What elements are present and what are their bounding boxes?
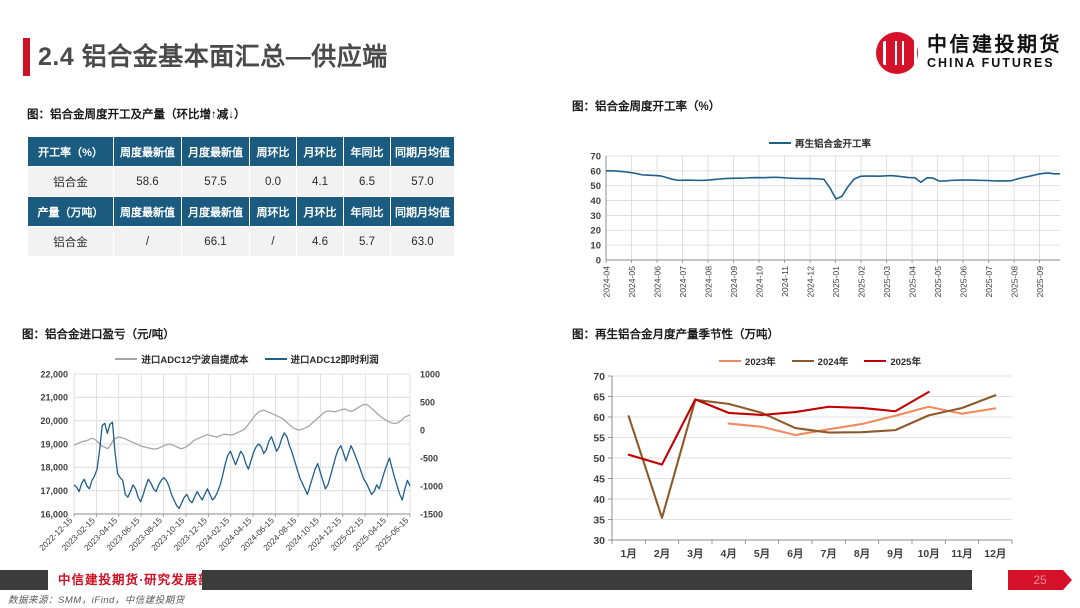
- svg-text:2月: 2月: [654, 548, 670, 560]
- table-header-cell: 周度最新值: [114, 197, 182, 227]
- supply-summary-table: 开工率（%）周度最新值月度最新值周环比月环比年同比同期月均值铝合金58.657.…: [27, 136, 455, 257]
- svg-text:1月: 1月: [620, 548, 636, 560]
- table-cell: 4.6: [297, 227, 344, 257]
- svg-text:30: 30: [593, 535, 605, 547]
- table-cell: 0.0: [250, 167, 297, 197]
- svg-text:2025-09: 2025-09: [1035, 266, 1045, 298]
- table-header-cell: 月环比: [297, 137, 344, 167]
- svg-text:2025-05: 2025-05: [933, 266, 943, 298]
- legend-item: 2025年: [864, 354, 921, 368]
- svg-text:55: 55: [593, 433, 605, 445]
- legend-item: 2024年: [792, 354, 849, 368]
- import-profit-legend: 进口ADC12宁波自提成本进口ADC12即时利润: [22, 352, 472, 366]
- operating-rate-panel: 图：铝合金周度开工率（%） 再生铝合金开工率 01020304050607020…: [572, 98, 1068, 338]
- svg-text:19,000: 19,000: [40, 439, 68, 449]
- svg-text:22,000: 22,000: [40, 369, 68, 379]
- table-header-cell: 月度最新值: [182, 137, 250, 167]
- table-cell: 5.7: [344, 227, 391, 257]
- svg-text:2024-11: 2024-11: [780, 266, 790, 297]
- svg-text:5月: 5月: [754, 548, 770, 560]
- legend-swatch-icon: [864, 360, 886, 362]
- svg-text:-1500: -1500: [420, 509, 443, 519]
- svg-text:2025-06: 2025-06: [958, 266, 968, 298]
- svg-text:1000: 1000: [420, 369, 440, 379]
- footer-bar-left: [0, 570, 48, 590]
- table-row: 铝合金58.657.50.04.16.557.0: [28, 167, 455, 197]
- table-cell: 4.1: [297, 167, 344, 197]
- legend-swatch-icon: [115, 358, 137, 360]
- seasonality-chart: 3035404550556065701月2月3月4月5月6月7月8月9月10月1…: [572, 368, 1068, 573]
- brand-name-cn: 中信建投期货: [927, 35, 1062, 56]
- svg-text:6月: 6月: [787, 548, 803, 560]
- legend-item: 进口ADC12即时利润: [265, 352, 379, 366]
- svg-text:60: 60: [590, 166, 601, 177]
- legend-label: 2025年: [890, 354, 921, 368]
- brand-logo-text: 中信建投期货 CHINA FUTURES: [927, 35, 1062, 70]
- svg-text:17,000: 17,000: [40, 486, 68, 496]
- svg-text:18,000: 18,000: [40, 463, 68, 473]
- svg-text:65: 65: [593, 392, 605, 404]
- supply-table-panel: 图：铝合金周度开工及产量（环比增↑减↓）: [27, 106, 246, 122]
- svg-text:2024-09: 2024-09: [729, 266, 739, 298]
- import-profit-chart: 16,00017,00018,00019,00020,00021,00022,0…: [22, 366, 472, 586]
- svg-text:4月: 4月: [720, 548, 736, 560]
- svg-text:35: 35: [593, 515, 605, 527]
- svg-text:3月: 3月: [687, 548, 703, 560]
- legend-label: 进口ADC12即时利润: [291, 352, 379, 366]
- svg-text:2024-05: 2024-05: [627, 266, 637, 298]
- legend-swatch-icon: [792, 360, 814, 362]
- svg-text:2024-04: 2024-04: [601, 266, 611, 298]
- footer-department: 中信建投期货·研究发展部: [58, 570, 212, 590]
- table-header-cell: 月度最新值: [182, 197, 250, 227]
- svg-text:40: 40: [590, 196, 601, 207]
- seasonality-legend: 2023年2024年2025年: [572, 354, 1068, 368]
- table-cell: 63.0: [391, 227, 455, 257]
- table-header-cell: 同期月均值: [391, 197, 455, 227]
- svg-text:9月: 9月: [887, 548, 903, 560]
- supply-table-caption: 图：铝合金周度开工及产量（环比增↑减↓）: [27, 106, 246, 122]
- table-cell: 57.5: [182, 167, 250, 197]
- legend-label: 进口ADC12宁波自提成本: [141, 352, 248, 366]
- svg-text:2025-03: 2025-03: [882, 266, 892, 298]
- svg-text:2024-08: 2024-08: [703, 266, 713, 298]
- table-cell: 66.1: [182, 227, 250, 257]
- svg-text:12月: 12月: [984, 548, 1006, 560]
- footer-bar-right: [202, 570, 972, 590]
- legend-item: 进口ADC12宁波自提成本: [115, 352, 248, 366]
- svg-text:2025-08: 2025-08: [1009, 266, 1019, 298]
- svg-text:2025-01: 2025-01: [831, 266, 841, 298]
- svg-text:30: 30: [590, 211, 601, 222]
- svg-text:10: 10: [590, 241, 601, 252]
- svg-text:21,000: 21,000: [40, 393, 68, 403]
- footer-data-source: 数据来源：SMM，iFind，中信建投期货: [8, 592, 185, 606]
- table-header-cell: 年同比: [344, 137, 391, 167]
- svg-text:2025-04: 2025-04: [907, 266, 917, 298]
- table-header-cell: 年同比: [344, 197, 391, 227]
- svg-text:500: 500: [420, 397, 435, 407]
- svg-text:60: 60: [593, 412, 605, 424]
- page-title: 2.4 铝合金基本面汇总—供应端: [38, 38, 388, 76]
- legend-label: 2024年: [818, 354, 849, 368]
- seasonality-panel: 图：再生铝合金月度产量季节性（万吨） 2023年2024年2025年 30354…: [572, 326, 1068, 573]
- svg-text:50: 50: [590, 181, 601, 192]
- table-cell: /: [250, 227, 297, 257]
- table-row: 铝合金/66.1/4.65.763.0: [28, 227, 455, 257]
- svg-text:20,000: 20,000: [40, 416, 68, 426]
- svg-text:0: 0: [420, 425, 425, 435]
- svg-text:45: 45: [593, 474, 605, 486]
- svg-text:2025-07: 2025-07: [984, 266, 994, 298]
- svg-text:-500: -500: [420, 453, 438, 463]
- import-profit-caption: 图：铝合金进口盈亏（元/吨）: [22, 326, 472, 342]
- svg-text:50: 50: [593, 453, 605, 465]
- page-number-badge: 25: [1008, 570, 1072, 590]
- table-header-cell: 同期月均值: [391, 137, 455, 167]
- operating-rate-caption: 图：铝合金周度开工率（%）: [572, 98, 1068, 114]
- table-header-cell: 开工率（%）: [28, 137, 114, 167]
- table-cell: 58.6: [114, 167, 182, 197]
- svg-text:2025-02: 2025-02: [856, 266, 866, 298]
- import-profit-panel: 图：铝合金进口盈亏（元/吨） 进口ADC12宁波自提成本进口ADC12即时利润 …: [22, 326, 472, 586]
- table-header-cell: 周度最新值: [114, 137, 182, 167]
- table-header-row: 产量（万吨）周度最新值月度最新值周环比月环比年同比同期月均值: [28, 197, 455, 227]
- table-cell: /: [114, 227, 182, 257]
- svg-text:8月: 8月: [854, 548, 870, 560]
- svg-text:2024-06: 2024-06: [652, 266, 662, 298]
- brand-logo: 中信建投期货 CHINA FUTURES: [876, 32, 1062, 74]
- svg-text:40: 40: [593, 494, 605, 506]
- operating-rate-chart: 0102030405060702024-042024-052024-062024…: [572, 150, 1068, 338]
- slide-header: 2.4 铝合金基本面汇总—供应端 中信建投期货 CHINA FUTURES: [0, 0, 1080, 92]
- legend-item: 2023年: [719, 354, 776, 368]
- table-cell: 6.5: [344, 167, 391, 197]
- legend-label: 2023年: [745, 354, 776, 368]
- table-cell: 57.0: [391, 167, 455, 197]
- seasonality-caption: 图：再生铝合金月度产量季节性（万吨）: [572, 326, 1068, 342]
- svg-text:0: 0: [596, 255, 601, 266]
- operating-rate-legend: 再生铝合金开工率: [572, 136, 1068, 150]
- svg-text:20: 20: [590, 226, 601, 237]
- brand-name-en: CHINA FUTURES: [927, 57, 1062, 70]
- svg-text:70: 70: [593, 371, 605, 383]
- svg-text:2024-12: 2024-12: [805, 266, 815, 298]
- table-header-cell: 周环比: [250, 197, 297, 227]
- svg-text:7月: 7月: [820, 548, 836, 560]
- legend-label: 再生铝合金开工率: [795, 136, 871, 150]
- title-accent-bar: [23, 38, 30, 76]
- svg-text:70: 70: [590, 151, 601, 162]
- legend-item: 再生铝合金开工率: [769, 136, 871, 150]
- table-cell: 铝合金: [28, 167, 114, 197]
- svg-text:2024-10: 2024-10: [754, 266, 764, 298]
- legend-swatch-icon: [719, 360, 741, 362]
- legend-swatch-icon: [265, 358, 287, 360]
- table-header-row: 开工率（%）周度最新值月度最新值周环比月环比年同比同期月均值: [28, 137, 455, 167]
- table-cell: 铝合金: [28, 227, 114, 257]
- table-header-cell: 产量（万吨）: [28, 197, 114, 227]
- citic-logo-icon: [876, 32, 918, 74]
- svg-text:-1000: -1000: [420, 481, 443, 491]
- svg-text:11月: 11月: [951, 548, 973, 560]
- table-header-cell: 周环比: [250, 137, 297, 167]
- legend-swatch-icon: [769, 142, 791, 144]
- svg-text:10月: 10月: [918, 548, 940, 560]
- table-header-cell: 月环比: [297, 197, 344, 227]
- svg-text:2024-07: 2024-07: [678, 266, 688, 298]
